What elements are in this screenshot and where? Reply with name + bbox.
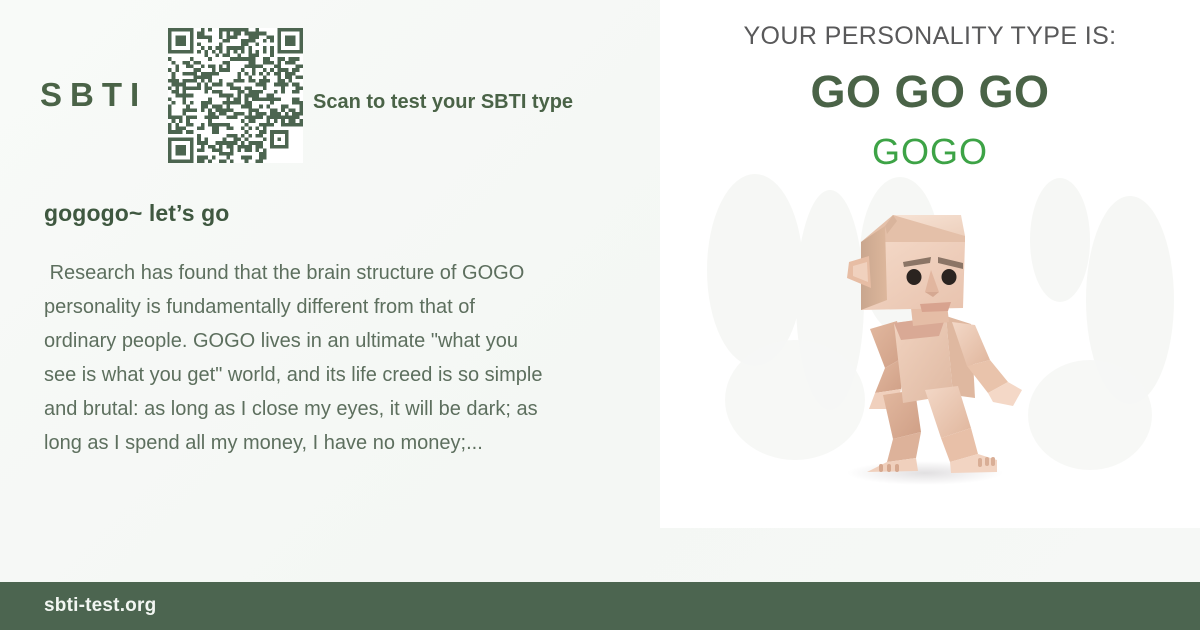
description-text: Research has found that the brain struct… bbox=[44, 256, 544, 460]
qr-caption: Scan to test your SBTI type bbox=[313, 86, 593, 118]
personality-type-code: GOGO bbox=[660, 131, 1200, 173]
footer-url[interactable]: sbti-test.org bbox=[44, 582, 156, 630]
result-heading: YOUR PERSONALITY TYPE IS: bbox=[660, 22, 1200, 51]
result-panel: YOUR PERSONALITY TYPE IS: GO GO GO GOGO bbox=[660, 0, 1200, 528]
brand-row: SBTI Scan to test your SBTI type bbox=[40, 28, 620, 178]
qr-code-image bbox=[168, 28, 303, 163]
footer-bar: sbti-test.org bbox=[0, 582, 1200, 630]
brand-logo: SBTI bbox=[40, 76, 147, 114]
personality-type-name: GO GO GO bbox=[660, 66, 1200, 118]
qr-code[interactable] bbox=[168, 28, 303, 163]
share-card: YOUR PERSONALITY TYPE IS: GO GO GO GOGO bbox=[0, 0, 1200, 630]
tagline: gogogo~ let’s go bbox=[44, 200, 584, 227]
character-illustration bbox=[775, 190, 1085, 500]
